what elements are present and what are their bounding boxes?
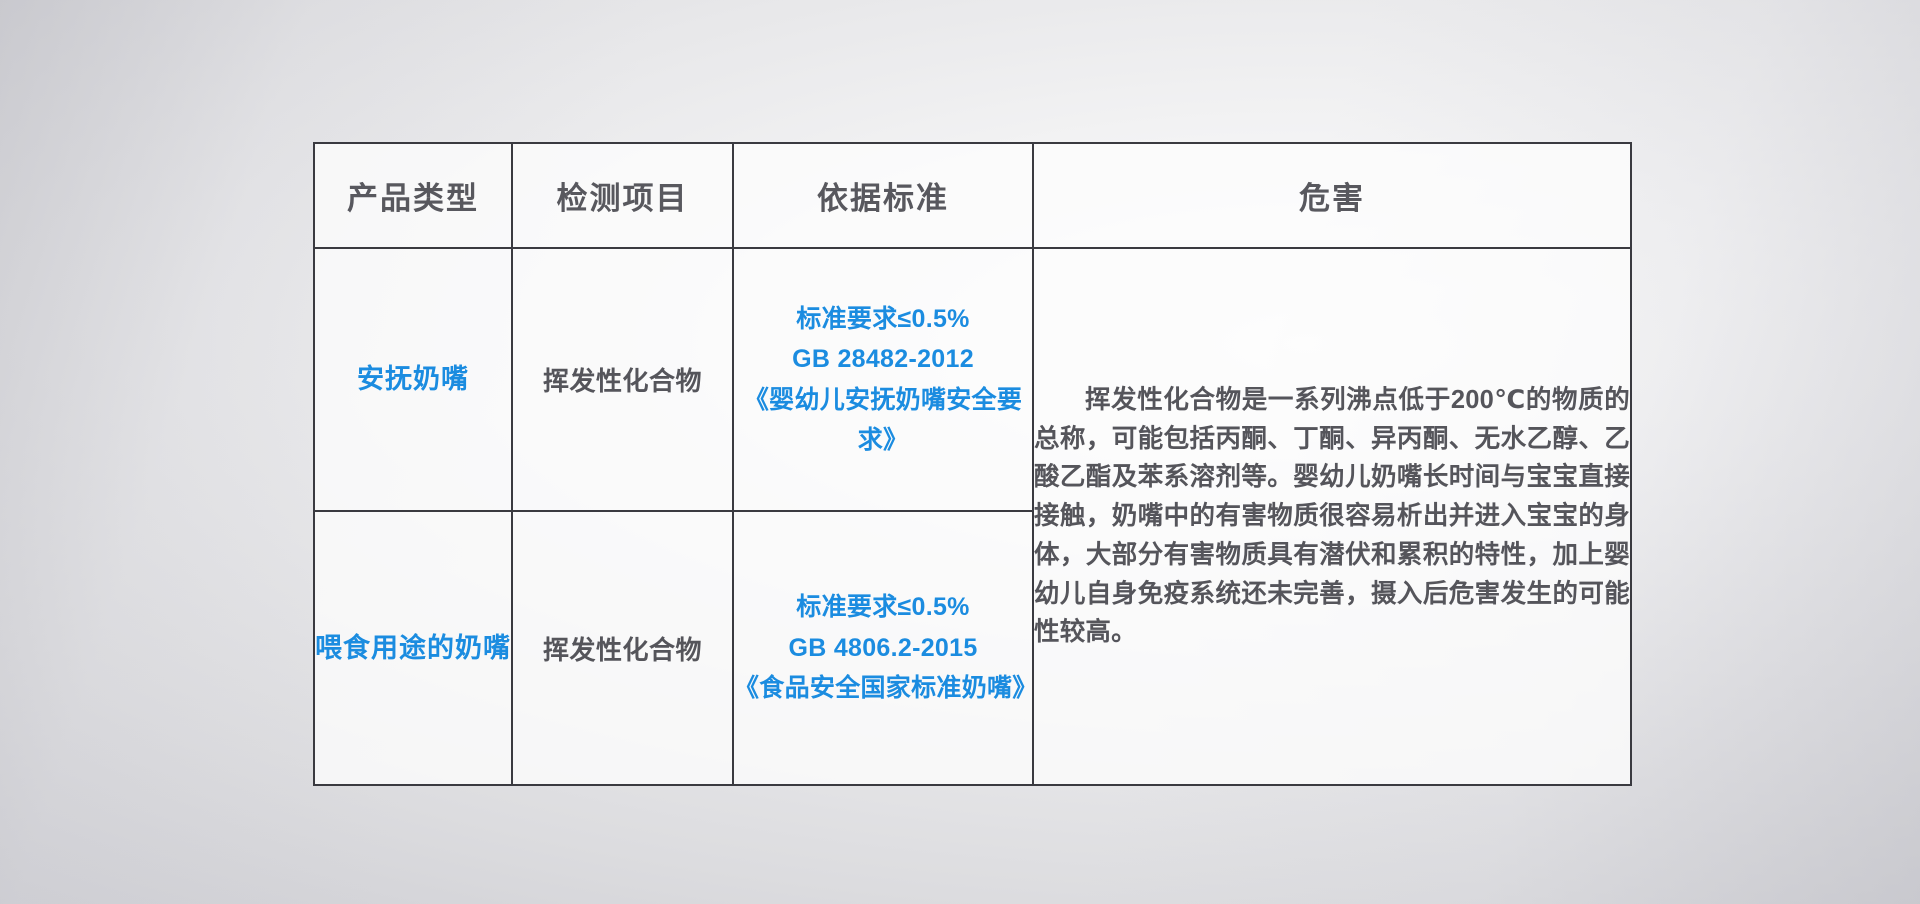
cell-product-type: 安抚奶嘴 xyxy=(314,248,512,511)
cell-test-item: 挥发性化合物 xyxy=(512,248,733,511)
standard-requirement: 标准要求≤0.5% xyxy=(734,587,1032,628)
cell-standard: 标准要求≤0.5% GB 28482-2012 《婴幼儿安抚奶嘴安全要求》 xyxy=(733,248,1033,511)
cell-test-item: 挥发性化合物 xyxy=(512,511,733,785)
standard-title: 《婴幼儿安抚奶嘴安全要求》 xyxy=(734,380,1032,461)
cell-standard: 标准要求≤0.5% GB 4806.2-2015 《食品安全国家标准奶嘴》 xyxy=(733,511,1033,785)
standard-code: GB 4806.2-2015 xyxy=(734,628,1032,669)
header-harm: 危害 xyxy=(1033,143,1631,248)
cell-product-type: 喂食用途的奶嘴 xyxy=(314,511,512,785)
cell-harm: 挥发性化合物是一系列沸点低于200℃的物质的总称，可能包括丙酮、丁酮、异丙酮、无… xyxy=(1033,248,1631,785)
header-row: 产品类型 检测项目 依据标准 危害 xyxy=(314,143,1631,248)
table-header: 产品类型 检测项目 依据标准 危害 xyxy=(314,143,1631,248)
standard-requirement: 标准要求≤0.5% xyxy=(734,299,1032,340)
standard-title: 《食品安全国家标准奶嘴》 xyxy=(734,668,1032,709)
table-row: 安抚奶嘴 挥发性化合物 标准要求≤0.5% GB 28482-2012 《婴幼儿… xyxy=(314,248,1631,511)
header-product-type: 产品类型 xyxy=(314,143,512,248)
harm-paragraph: 挥发性化合物是一系列沸点低于200℃的物质的总称，可能包括丙酮、丁酮、异丙酮、无… xyxy=(1034,381,1630,652)
header-test-item: 检测项目 xyxy=(512,143,733,248)
table-body: 安抚奶嘴 挥发性化合物 标准要求≤0.5% GB 28482-2012 《婴幼儿… xyxy=(314,248,1631,785)
header-standard: 依据标准 xyxy=(733,143,1033,248)
product-standard-table: 产品类型 检测项目 依据标准 危害 安抚奶嘴 挥发性化合物 标准要求≤0.5% … xyxy=(313,142,1632,786)
standard-code: GB 28482-2012 xyxy=(734,339,1032,380)
spec-table-container: 产品类型 检测项目 依据标准 危害 安抚奶嘴 挥发性化合物 标准要求≤0.5% … xyxy=(313,142,1630,781)
